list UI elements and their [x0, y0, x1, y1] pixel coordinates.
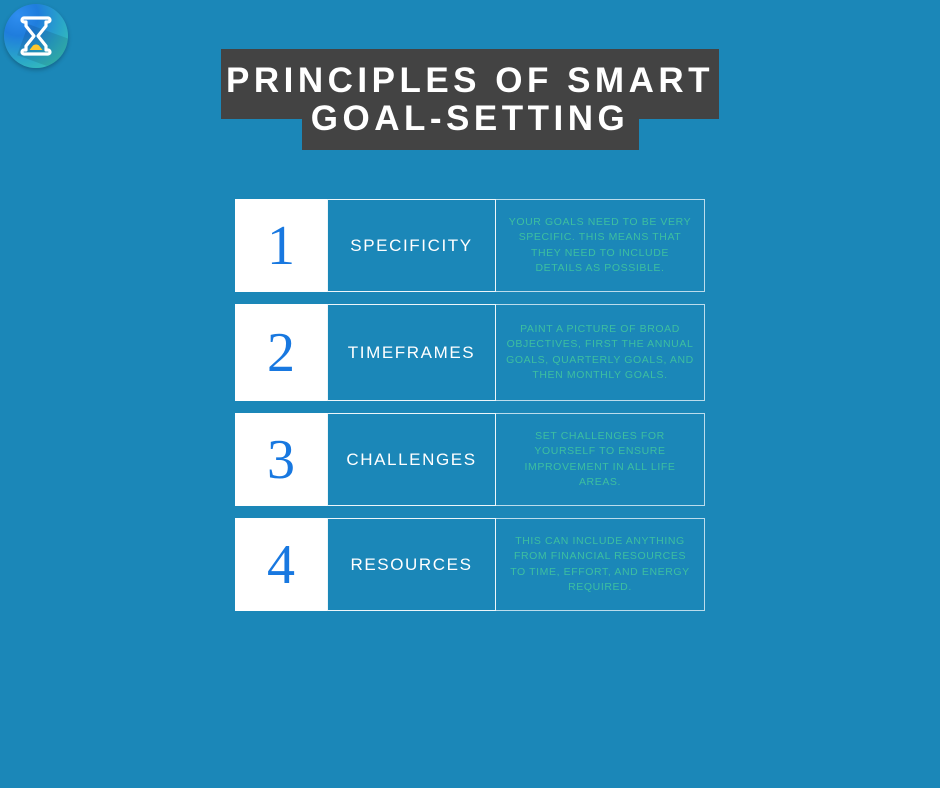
- principle-description: YOUR GOALS NEED TO BE VERY SPECIFIC. THI…: [496, 199, 705, 292]
- principle-description: THIS CAN INCLUDE ANYTHING FROM FINANCIAL…: [496, 518, 705, 611]
- principle-label: CHALLENGES: [327, 413, 496, 506]
- principle-number: 2: [235, 304, 327, 401]
- list-item[interactable]: 1 SPECIFICITY YOUR GOALS NEED TO BE VERY…: [235, 199, 705, 292]
- principle-label: SPECIFICITY: [327, 199, 496, 292]
- principle-label: RESOURCES: [327, 518, 496, 611]
- list-item[interactable]: 4 RESOURCES THIS CAN INCLUDE ANYTHING FR…: [235, 518, 705, 611]
- principle-number: 3: [235, 413, 327, 506]
- page-title-line-1: PRINCIPLES OF SMART: [226, 62, 714, 100]
- principles-list: 1 SPECIFICITY YOUR GOALS NEED TO BE VERY…: [235, 199, 705, 623]
- list-item[interactable]: 2 TIMEFRAMES PAINT A PICTURE OF BROAD OB…: [235, 304, 705, 401]
- principle-label: TIMEFRAMES: [327, 304, 496, 401]
- principle-description: SET CHALLENGES FOR YOURSELF TO ENSURE IM…: [496, 413, 705, 506]
- page-title-block: PRINCIPLES OF SMART GOAL-SETTING: [0, 0, 940, 170]
- page-title-line-2: GOAL-SETTING: [311, 100, 629, 138]
- principle-number: 1: [235, 199, 327, 292]
- principle-number: 4: [235, 518, 327, 611]
- page-title: PRINCIPLES OF SMART GOAL-SETTING: [221, 49, 719, 150]
- principle-description: PAINT A PICTURE OF BROAD OBJECTIVES, FIR…: [496, 304, 705, 401]
- list-item[interactable]: 3 CHALLENGES SET CHALLENGES FOR YOURSELF…: [235, 413, 705, 506]
